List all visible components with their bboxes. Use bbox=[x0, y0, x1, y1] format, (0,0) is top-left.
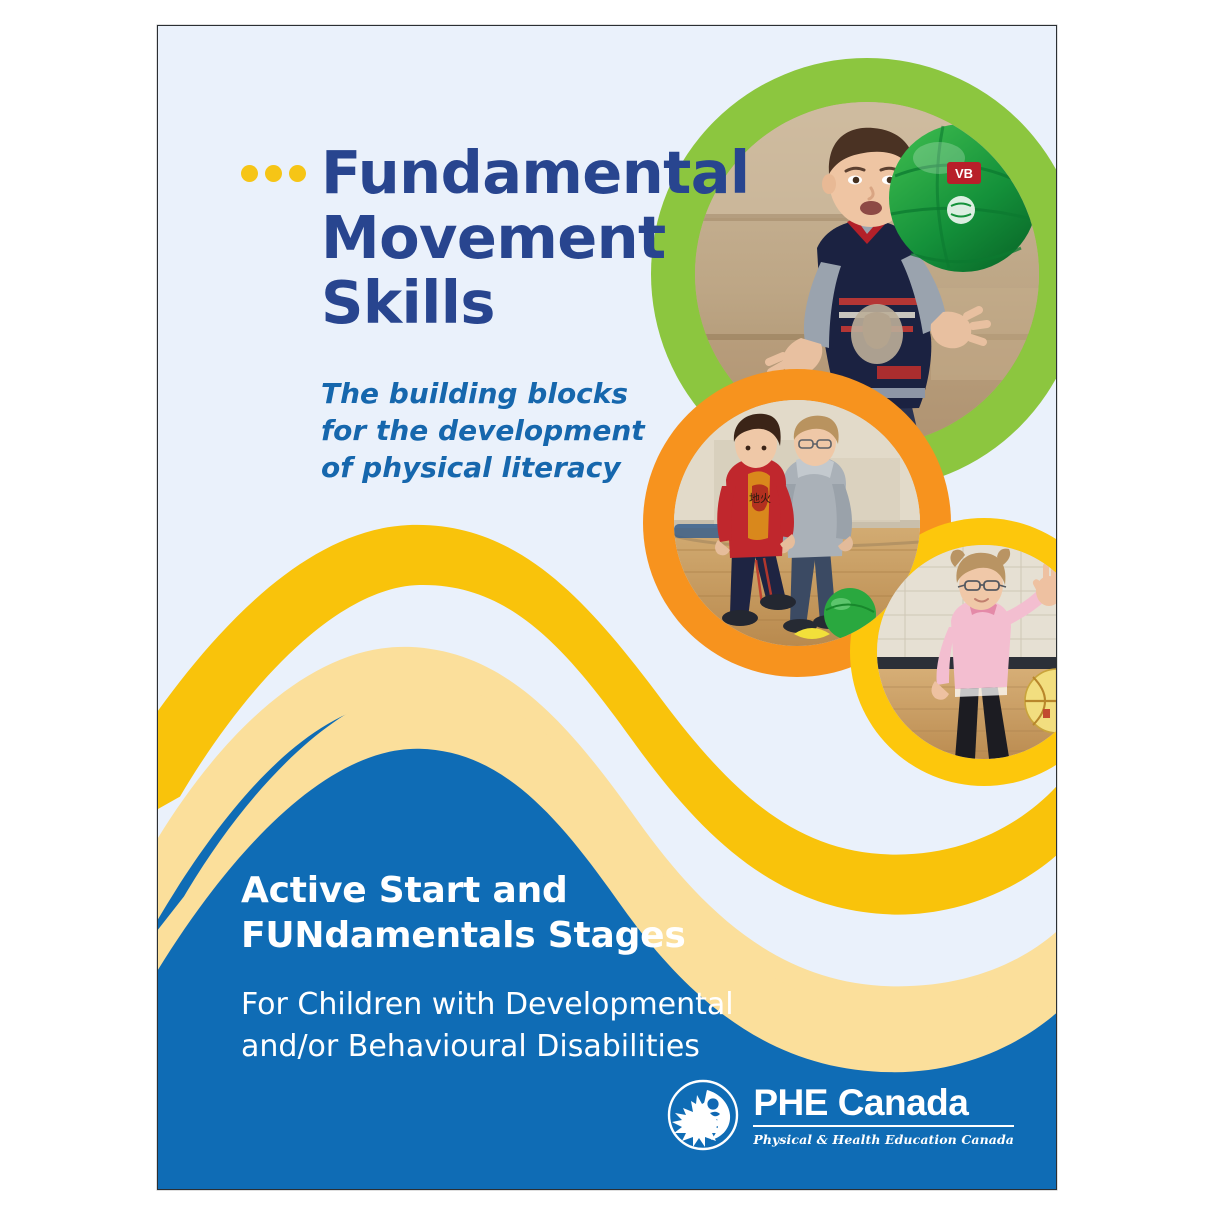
phe-canada-maple-leaf-swoosh-icon bbox=[667, 1079, 739, 1151]
logo-tagline: Physical & Health Education Canada bbox=[753, 1132, 1014, 1147]
phe-canada-logo: PHE Canada Physical & Health Education C… bbox=[667, 1079, 1014, 1151]
page-subtitle-line-1: The building blocks bbox=[321, 376, 651, 413]
audience-line-1: For Children with Developmental bbox=[241, 984, 861, 1025]
page-title-line-2: Movement bbox=[241, 206, 701, 271]
book-cover: VB bbox=[157, 25, 1057, 1190]
audience-line-2: and/or Behavioural Disabilities bbox=[241, 1026, 861, 1067]
page-title-line-3: Skills bbox=[321, 271, 701, 336]
gold-dot-2 bbox=[265, 165, 282, 182]
page-subtitle-line-2: for the development bbox=[321, 413, 651, 450]
stage-heading: Active Start and FUNdamentals Stages bbox=[241, 868, 861, 958]
svg-text:VB: VB bbox=[955, 166, 973, 181]
page-subtitle-line-3: of physical literacy bbox=[321, 450, 651, 487]
stage-heading-line-1: Active Start and bbox=[241, 868, 861, 913]
title-block: FundamentalMovementSkills The building b… bbox=[241, 141, 701, 487]
svg-text:地火: 地火 bbox=[749, 492, 771, 505]
page-title-line-1: Fundamental bbox=[321, 138, 750, 207]
three-gold-dots-icon bbox=[241, 165, 306, 182]
audience-description: For Children with Developmental and/or B… bbox=[241, 984, 861, 1067]
gold-dot-1 bbox=[241, 165, 258, 182]
page-canvas: VB bbox=[0, 0, 1214, 1214]
bottom-text-block: Active Start and FUNdamentals Stages For… bbox=[241, 868, 861, 1067]
page-title: FundamentalMovementSkills bbox=[241, 141, 701, 336]
photo-orange-circle: 地火 bbox=[674, 400, 920, 646]
logo-name: PHE Canada bbox=[753, 1084, 1014, 1127]
gold-dot-3 bbox=[289, 165, 306, 182]
page-subtitle: The building blocks for the development … bbox=[321, 376, 651, 487]
logo-wordmark: PHE Canada Physical & Health Education C… bbox=[753, 1084, 1014, 1147]
stage-heading-line-2: FUNdamentals Stages bbox=[241, 913, 861, 958]
